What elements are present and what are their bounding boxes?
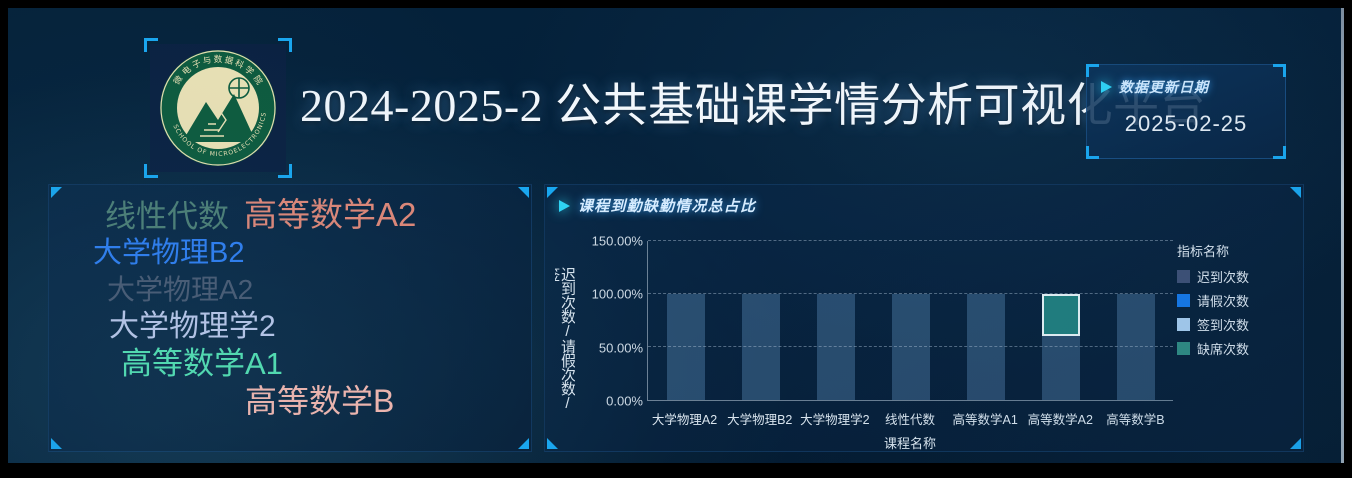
y-axis-tick-label: 0.00%	[606, 394, 643, 409]
bar-slot[interactable]	[873, 241, 948, 400]
wordcloud-word[interactable]: 大学物理A2	[107, 276, 253, 304]
wordcloud-word[interactable]: 高等数学B	[245, 385, 394, 417]
x-axis-tick-label: 大学物理A2	[647, 409, 722, 428]
x-axis-tick-label: 高等数学B	[1098, 409, 1173, 428]
y-axis-tick-label: 100.00%	[592, 287, 643, 302]
data-update-value: 2025-02-25	[1087, 111, 1285, 137]
wordcloud-word[interactable]: 线性代数	[105, 201, 229, 232]
legend-color-swatch	[1177, 270, 1190, 283]
bar[interactable]	[1117, 294, 1155, 400]
bar[interactable]	[892, 294, 930, 400]
svg-text:数: 数	[214, 54, 223, 65]
gridline	[648, 240, 1173, 241]
screen-right-edge	[1341, 8, 1344, 463]
legend-item-label: 请假次数	[1197, 291, 1249, 310]
x-axis-tick-label: 线性代数	[872, 409, 947, 428]
play-arrow-icon	[559, 200, 570, 212]
page-title: 2024-2025-2 公共基础课学情分析可视化平台	[300, 70, 1130, 142]
x-axis-tick-label: 高等数学A2	[1023, 409, 1098, 428]
legend-item[interactable]: 签到次数	[1177, 315, 1289, 334]
attendance-bar-chart[interactable]: 迟到次数/请假次数/签: 0.00%50.00%100.00%150.00% 大…	[545, 219, 1303, 451]
school-logo: 微 电 子 与 数 据 科 学 院 SCHOOL OF MICROELECTRO…	[144, 38, 292, 178]
gridline	[648, 293, 1173, 294]
course-word-cloud[interactable]: 线性代数高等数学A2大学物理B2大学物理A2大学物理学2高等数学A1高等数学B	[49, 185, 531, 451]
play-arrow-icon	[1101, 81, 1112, 93]
x-axis-tick-label: 大学物理B2	[722, 409, 797, 428]
bar-slot[interactable]	[723, 241, 798, 400]
x-axis-title: 课程名称	[647, 433, 1173, 452]
data-update-header: 数据更新日期	[1101, 77, 1209, 97]
y-axis-ticks: 0.00%50.00%100.00%150.00%	[575, 241, 647, 401]
dashboard-header: 微 电 子 与 数 据 科 学 院 SCHOOL OF MICROELECTRO…	[8, 8, 1344, 178]
x-axis-tick-label: 大学物理学2	[797, 409, 872, 428]
bar[interactable]	[967, 294, 1005, 400]
wordcloud-word[interactable]: 高等数学A2	[244, 198, 416, 231]
legend-title: 指标名称	[1177, 241, 1289, 260]
x-axis-tick-labels: 大学物理A2大学物理B2大学物理学2线性代数高等数学A1高等数学A2高等数学B	[647, 409, 1173, 428]
bar-slot[interactable]	[1098, 241, 1173, 400]
bar[interactable]	[667, 294, 705, 400]
legend-color-swatch	[1177, 294, 1190, 307]
y-axis-tick-label: 150.00%	[592, 234, 643, 249]
legend-item-label: 签到次数	[1197, 315, 1249, 334]
x-axis-tick-label: 高等数学A1	[948, 409, 1023, 428]
legend-item-label: 迟到次数	[1197, 267, 1249, 286]
legend-color-swatch	[1177, 342, 1190, 355]
chart-legend[interactable]: 指标名称 迟到次数请假次数签到次数缺席次数	[1177, 241, 1289, 363]
chart-panel-title: 课程到勤缺勤情况总占比	[578, 195, 756, 216]
wordcloud-panel: 线性代数高等数学A2大学物理B2大学物理A2大学物理学2高等数学A1高等数学B	[48, 184, 532, 452]
wordcloud-word[interactable]: 大学物理学2	[109, 312, 276, 342]
bar[interactable]	[742, 294, 780, 400]
bar[interactable]	[817, 294, 855, 400]
legend-item-label: 缺席次数	[1197, 339, 1249, 358]
chart-panel-header: 课程到勤缺勤情况总占比	[559, 195, 756, 216]
gridline	[648, 346, 1173, 347]
data-update-card: 数据更新日期 2025-02-25	[1086, 64, 1286, 159]
attendance-chart-panel: 课程到勤缺勤情况总占比 迟到次数/请假次数/签: 0.00%50.00%100.…	[544, 184, 1304, 452]
legend-item[interactable]: 请假次数	[1177, 291, 1289, 310]
highlighted-bar-segment[interactable]	[1042, 294, 1080, 336]
y-axis-tick-label: 50.00%	[599, 340, 643, 355]
bar-slot[interactable]	[948, 241, 1023, 400]
bar-group	[648, 241, 1173, 400]
legend-item[interactable]: 缺席次数	[1177, 339, 1289, 358]
legend-color-swatch	[1177, 318, 1190, 331]
school-emblem-icon: 微 电 子 与 数 据 科 学 院 SCHOOL OF MICROELECTRO…	[156, 46, 280, 170]
logo-emblem: 微 电 子 与 数 据 科 学 院 SCHOOL OF MICROELECTRO…	[150, 44, 286, 172]
bar-slot[interactable]	[798, 241, 873, 400]
dashboard-screen: 微 电 子 与 数 据 科 学 院 SCHOOL OF MICROELECTRO…	[8, 8, 1344, 463]
bar-slot[interactable]	[1023, 241, 1098, 400]
y-axis-title: 迟到次数/请假次数/签:	[555, 267, 575, 415]
legend-item[interactable]: 迟到次数	[1177, 267, 1289, 286]
plot-area	[647, 241, 1173, 401]
wordcloud-word[interactable]: 大学物理B2	[93, 239, 244, 268]
bar-slot[interactable]	[648, 241, 723, 400]
wordcloud-word[interactable]: 高等数学A1	[121, 348, 283, 379]
data-update-label: 数据更新日期	[1119, 77, 1209, 97]
